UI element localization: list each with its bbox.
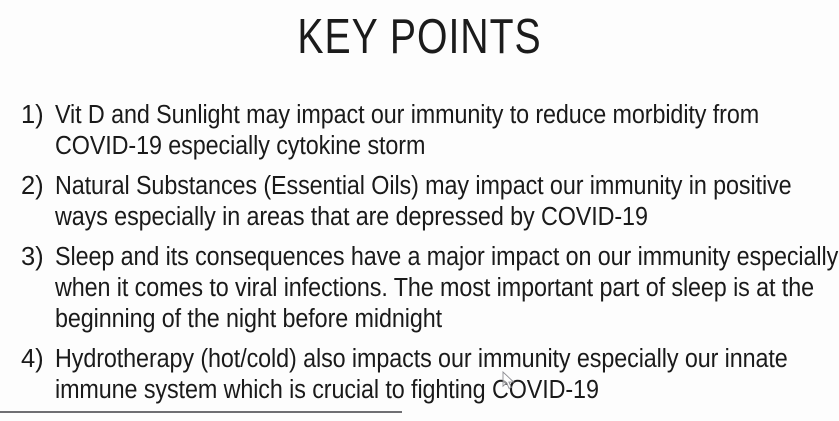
key-points-list: 1) Vit D and Sunlight may impact our imm… bbox=[0, 100, 839, 415]
list-item-text: Hydrotherapy (hot/cold) also impacts our… bbox=[55, 344, 839, 406]
list-item: 2) Natural Substances (Essential Oils) m… bbox=[0, 171, 839, 233]
bottom-divider bbox=[0, 411, 402, 413]
page-title: KEY POINTS bbox=[84, 9, 755, 65]
list-item-text: Vit D and Sunlight may impact our immuni… bbox=[55, 100, 839, 162]
list-item-marker: 1) bbox=[21, 100, 55, 131]
list-item-marker: 3) bbox=[21, 242, 55, 273]
list-item-marker: 2) bbox=[21, 171, 55, 202]
list-item-marker: 4) bbox=[21, 344, 55, 375]
list-item: 4) Hydrotherapy (hot/cold) also impacts … bbox=[0, 344, 839, 406]
list-item: 3) Sleep and its consequences have a maj… bbox=[0, 242, 839, 335]
presentation-slide: KEY POINTS 1) Vit D and Sunlight may imp… bbox=[0, 0, 839, 421]
list-item-text: Sleep and its consequences have a major … bbox=[55, 242, 839, 335]
list-item: 1) Vit D and Sunlight may impact our imm… bbox=[0, 100, 839, 162]
list-item-text: Natural Substances (Essential Oils) may … bbox=[55, 171, 839, 233]
